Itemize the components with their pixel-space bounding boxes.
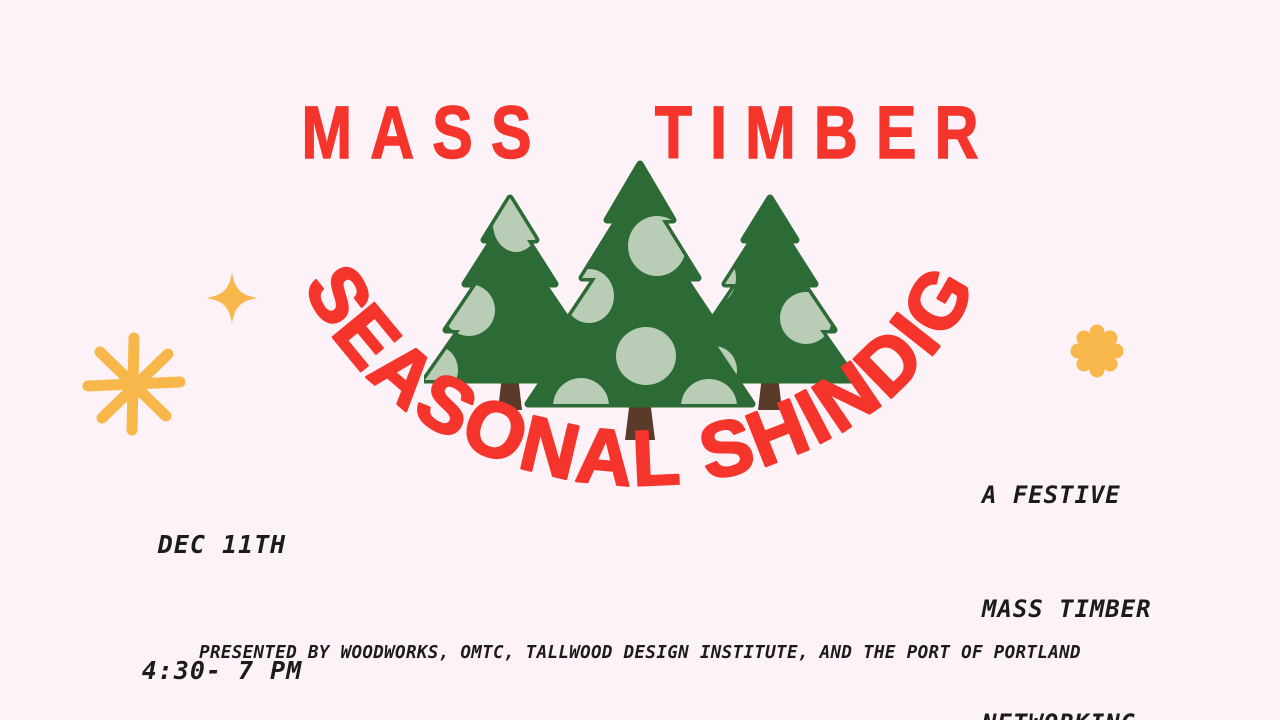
svg-text:SEASONAL SHINDIG: SEASONAL SHINDIG [288,250,993,503]
description-line-1: A FESTIVE [982,476,1152,514]
event-date: DEC 11TH [122,524,322,566]
flower-asterisk-icon [1066,320,1128,382]
event-flyer: MASS TIMBER SEASONAL SHINDIG DEC 11TH 4:… [0,0,1280,720]
event-datetime: DEC 11TH 4:30- 7 PM [122,440,322,720]
arc-title: SEASONAL SHINDIG [260,255,1020,615]
description-line-3: NETWORKING [982,704,1152,720]
page-title: MASS TIMBER [115,96,1165,170]
event-description: A FESTIVE MASS TIMBER NETWORKING EVENT [982,400,1152,720]
starburst-icon [80,330,188,438]
presenters-credit: PRESENTED BY WOODWORKS, OMTC, TALLWOOD D… [0,643,1280,663]
sparkle-icon [206,272,258,324]
arc-title-text: SEASONAL SHINDIG [288,250,993,503]
description-line-2: MASS TIMBER [982,590,1152,628]
